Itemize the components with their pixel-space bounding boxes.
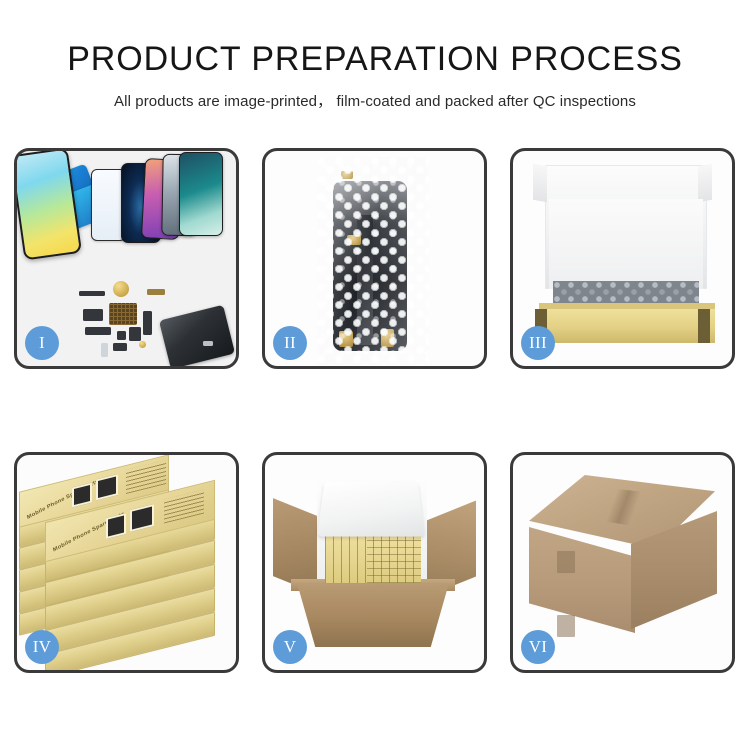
box-print-lines-1-icon [126,460,166,494]
flex-cable-icon [79,291,105,296]
step-badge-5: V [273,630,307,664]
phone-back-housing-icon [159,305,235,366]
step-badge-2: II [273,326,307,360]
step-panel-3[interactable]: III [510,148,735,369]
header: PRODUCT PREPARATION PROCESS All products… [0,0,750,111]
carton-tab-lower-icon [557,615,575,637]
box-window-1b-icon [96,474,118,500]
box-window-2a-icon [106,513,126,539]
step-badge-3: III [521,326,555,360]
kraft-boxes-edges-rear-icon [367,533,421,583]
connector-strip-icon [147,289,165,295]
step-panel-5[interactable]: V [262,452,487,673]
small-part-c-icon [117,331,126,340]
phone-display-teal-icon [179,152,223,236]
product-preparation-infographic: PRODUCT PREPARATION PROCESS All products… [0,0,750,750]
small-part-g-icon [113,343,127,351]
bubble-wrap-bag-icon [317,157,429,365]
step-panel-4[interactable]: Mobile Phone Spare Parts Mobile Phone Sp… [14,452,239,673]
box-window-2b-icon [130,504,154,532]
plastic-sheen-icon [317,157,429,365]
box-tray-front-icon [539,309,715,343]
step-panel-6[interactable]: VI [510,452,735,673]
step-panel-1[interactable]: I [14,148,239,369]
foam-lid-icon [317,481,425,536]
box-tray-corner-right-icon [698,309,710,343]
carton-tab-upper-icon [557,551,575,573]
carton-left-face-icon [529,527,635,633]
small-part-e-icon [143,311,152,335]
small-part-d-icon [129,327,141,341]
step-badge-6: VI [521,630,555,664]
small-part-b-icon [85,327,111,335]
screw-icon [139,341,146,348]
carton-front-icon [297,583,449,647]
small-part-f-icon [101,343,108,357]
step-badge-4: IV [25,630,59,664]
process-steps-grid: I II [14,148,736,673]
foam-lining-icon [549,199,703,289]
page-title: PRODUCT PREPARATION PROCESS [0,38,750,80]
box-window-1a-icon [72,482,92,507]
box-lid-flap-right-icon [698,164,712,202]
camera-ring-icon [113,281,129,297]
small-part-a-icon [83,309,103,321]
page-subtitle: All products are image-printed， film-coa… [0,90,750,111]
small-part-h-icon [203,341,213,346]
box-lid-flap-left-icon [533,164,547,202]
speaker-mesh-icon [109,303,137,325]
kraft-boxes-inside-icon [325,533,421,583]
step-panel-2[interactable]: II [262,148,487,369]
box-print-lines-2-icon [164,490,204,524]
step-badge-1: I [25,326,59,360]
